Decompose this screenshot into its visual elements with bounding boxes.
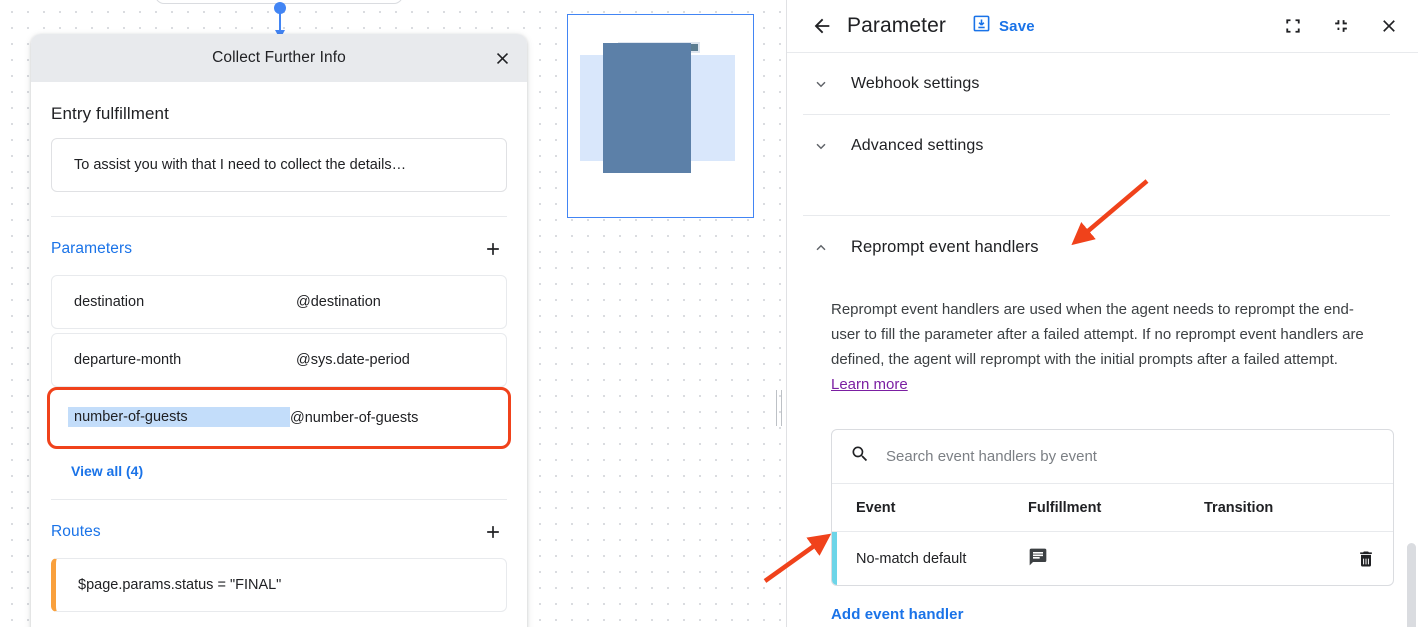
arrow-left-icon[interactable]	[807, 11, 837, 41]
page-card: Collect Further Info Entry fulfillment T…	[31, 34, 527, 627]
panel-header: Parameter Save	[787, 0, 1418, 53]
table-row[interactable]: No-match default	[832, 532, 1393, 585]
search-icon	[850, 444, 870, 469]
section-advanced-settings[interactable]: Advanced settings	[803, 115, 1390, 176]
row-accent-bar	[832, 532, 837, 585]
parameters-section-header: Parameters	[51, 217, 507, 275]
routes-section-header: Routes	[51, 500, 507, 558]
learn-more-link[interactable]: Learn more	[831, 376, 908, 393]
event-handler-search[interactable]	[832, 430, 1393, 484]
parameters-heading[interactable]: Parameters	[51, 240, 132, 258]
event-handlers-table-header: Event Fulfillment Transition	[832, 484, 1393, 532]
event-name: No-match default	[856, 551, 1028, 567]
plus-icon[interactable]	[479, 235, 507, 263]
parameter-name: destination	[74, 294, 296, 310]
search-input[interactable]	[886, 448, 1375, 465]
section-label: Reprompt event handlers	[851, 238, 1039, 257]
parameter-name: departure-month	[74, 352, 296, 368]
parameter-row[interactable]: departure-month @sys.date-period	[51, 333, 507, 387]
parameter-row[interactable]: destination @destination	[51, 275, 507, 329]
flow-canvas[interactable]: Collect Further Info Entry fulfillment T…	[0, 0, 787, 627]
trash-icon[interactable]	[1353, 546, 1379, 572]
plus-icon[interactable]	[479, 518, 507, 546]
panel-body: Webhook settings Advanced settings	[787, 53, 1418, 627]
close-icon[interactable]	[1376, 13, 1402, 39]
entry-fulfillment-prompt-text: To assist you with that I need to collec…	[74, 157, 406, 173]
section-label: Webhook settings	[851, 75, 980, 93]
view-all-parameters-link[interactable]: View all (4)	[51, 449, 143, 483]
chevron-up-icon	[807, 234, 835, 262]
panel-title: Parameter	[847, 14, 946, 38]
page-card-header: Collect Further Info	[31, 34, 527, 82]
parameter-entity: @number-of-guests	[290, 410, 418, 426]
entry-fulfillment-prompt[interactable]: To assist you with that I need to collec…	[51, 138, 507, 192]
app-root: Collect Further Info Entry fulfillment T…	[0, 0, 1418, 627]
column-header-fulfillment: Fulfillment	[1028, 500, 1204, 516]
column-header-transition: Transition	[1204, 500, 1393, 516]
parameter-entity: @sys.date-period	[296, 352, 410, 368]
event-handlers-card: Event Fulfillment Transition No-match de…	[831, 429, 1394, 586]
column-header-event: Event	[856, 500, 1028, 516]
section-reprompt-event-handlers[interactable]: Reprompt event handlers	[803, 216, 1390, 279]
routes-heading[interactable]: Routes	[51, 523, 101, 541]
route-condition: $page.params.status = "FINAL"	[78, 577, 281, 593]
fullscreen-icon[interactable]	[1280, 13, 1306, 39]
parameter-row-selected[interactable]: number-of-guests @number-of-guests	[51, 391, 507, 445]
page-card-body: Entry fulfillment To assist you with tha…	[31, 82, 527, 627]
page-title: Collect Further Info	[212, 49, 346, 67]
message-icon[interactable]	[1028, 547, 1204, 571]
panel-splitter-handle[interactable]	[776, 390, 783, 426]
panel-scrollbar-thumb[interactable]	[1407, 543, 1416, 627]
parameter-name: number-of-guests	[68, 407, 290, 427]
reprompt-description: Reprompt event handlers are used when th…	[803, 279, 1388, 405]
route-row[interactable]: $page.params.status = "FINAL"	[51, 558, 507, 612]
save-label: Save	[999, 18, 1035, 35]
fullscreen-exit-icon[interactable]	[1328, 13, 1354, 39]
entry-fulfillment-heading: Entry fulfillment	[51, 82, 507, 138]
chevron-down-icon	[807, 70, 835, 98]
reprompt-description-text: Reprompt event handlers are used when th…	[831, 301, 1364, 368]
add-event-handler-link[interactable]: Add event handler	[831, 606, 964, 623]
collapsed-node-preview[interactable]	[567, 14, 754, 218]
chevron-down-icon	[807, 132, 835, 160]
save-icon	[972, 14, 991, 38]
parameter-side-panel: Parameter Save	[787, 0, 1418, 627]
section-label: Advanced settings	[851, 137, 983, 155]
parameter-entity: @destination	[296, 294, 381, 310]
section-webhook-settings[interactable]: Webhook settings	[803, 53, 1390, 114]
node-preview-block	[603, 43, 691, 173]
close-icon[interactable]	[487, 43, 517, 73]
save-button[interactable]: Save	[972, 14, 1035, 38]
panel-header-actions	[1280, 13, 1402, 39]
